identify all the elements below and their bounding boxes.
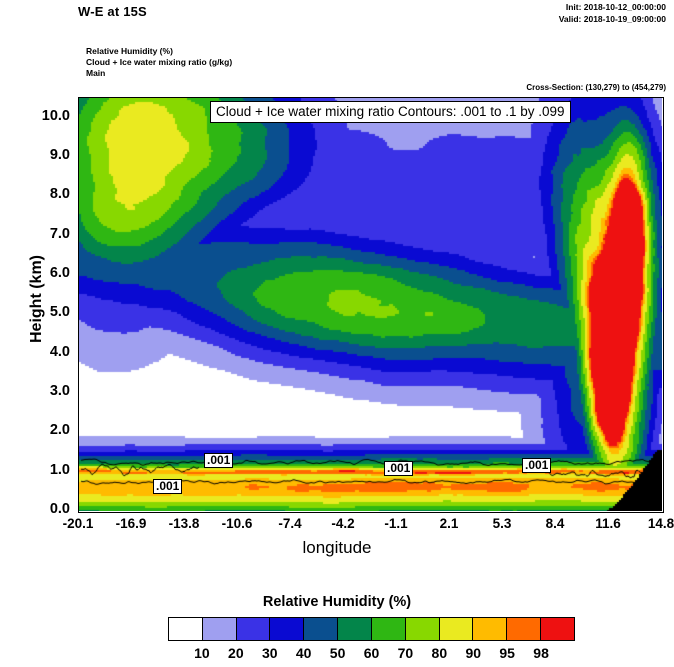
x-tick-label: -16.9 — [101, 516, 161, 531]
x-axis-labels: -20.1-16.9-13.8-10.6-7.4-4.2-1.12.15.38.… — [0, 516, 674, 538]
x-tick-label: -13.8 — [154, 516, 214, 531]
x-tick-label: 8.4 — [525, 516, 585, 531]
colorbar-swatch — [406, 618, 440, 640]
field-line-humidity: Relative Humidity (%) — [86, 46, 232, 57]
colorbar-swatch — [440, 618, 474, 640]
y-tick-label: 1.0 — [28, 462, 70, 478]
colorbar — [168, 617, 575, 641]
field-line-domain: Main — [86, 68, 232, 79]
colorbar-swatch — [541, 618, 574, 640]
x-tick-label: 14.8 — [631, 516, 674, 531]
x-tick-label: 11.6 — [578, 516, 638, 531]
colorbar-swatch — [338, 618, 372, 640]
init-time: Init: 2018-10-12_00:00:00 — [566, 2, 666, 12]
colorbar-tick-label: 98 — [521, 645, 561, 661]
plot-area: Cloud + Ice water mixing ratio Contours:… — [78, 97, 664, 513]
y-tick-label: 2.0 — [28, 422, 70, 438]
x-tick-label: -20.1 — [48, 516, 108, 531]
x-tick-label: -7.4 — [260, 516, 320, 531]
y-tick-label: 9.0 — [28, 147, 70, 163]
contour-legend-box: Cloud + Ice water mixing ratio Contours:… — [210, 101, 571, 123]
contour-label: .001 — [204, 453, 233, 468]
colorbar-swatch — [237, 618, 271, 640]
cross-section-coords: Cross-Section: (130,279) to (454,279) — [526, 83, 666, 92]
colorbar-swatch — [270, 618, 304, 640]
y-tick-label: 10.0 — [28, 108, 70, 124]
colorbar-swatch — [203, 618, 237, 640]
colorbar-swatch — [507, 618, 541, 640]
contour-label: .001 — [522, 458, 551, 473]
field-description: Relative Humidity (%) Cloud + Ice water … — [86, 46, 232, 79]
colorbar-tick-labels: 1020304050607080909598 — [168, 645, 575, 665]
valid-time: Valid: 2018-10-19_09:00:00 — [559, 14, 666, 24]
colorbar-swatch — [169, 618, 203, 640]
x-tick-label: -4.2 — [313, 516, 373, 531]
x-tick-label: -1.1 — [366, 516, 426, 531]
relative-humidity-field — [79, 98, 662, 511]
y-tick-label: 0.0 — [28, 501, 70, 517]
colorbar-swatch — [372, 618, 406, 640]
y-tick-label: 8.0 — [28, 186, 70, 202]
y-tick-label: 3.0 — [28, 383, 70, 399]
colorbar-swatch — [304, 618, 338, 640]
field-line-mixing-ratio: Cloud + Ice water mixing ratio (g/kg) — [86, 57, 232, 68]
x-tick-label: -10.6 — [207, 516, 267, 531]
x-axis-title: longitude — [0, 538, 674, 558]
y-axis-title: Height (km) — [28, 224, 46, 374]
page-title: W-E at 15S — [78, 4, 147, 19]
colorbar-swatch — [473, 618, 507, 640]
x-tick-label: 2.1 — [419, 516, 479, 531]
x-tick-label: 5.3 — [472, 516, 532, 531]
colorbar-title: Relative Humidity (%) — [0, 594, 674, 610]
contour-label: .001 — [153, 479, 182, 494]
contour-label: .001 — [384, 461, 413, 476]
